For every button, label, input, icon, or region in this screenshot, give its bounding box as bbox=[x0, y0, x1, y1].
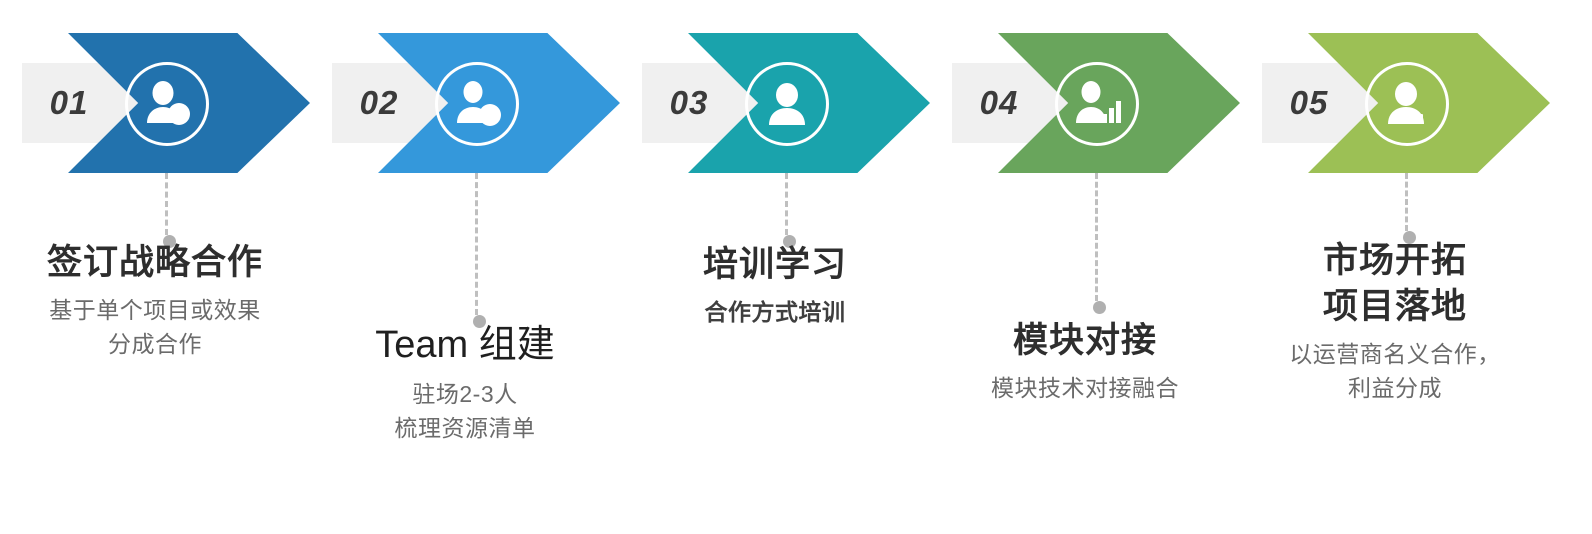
step-connector-line bbox=[785, 173, 791, 235]
user-check-icon bbox=[125, 62, 209, 146]
process-step: 03 培训学习 合作方式培训 bbox=[620, 0, 930, 534]
step-connector-line bbox=[475, 173, 481, 315]
user-badge-icon bbox=[1365, 62, 1449, 146]
step-connector-line bbox=[1405, 173, 1411, 231]
step-text-block: 市场开拓 项目落地 以运营商名义合作， 利益分成 bbox=[1240, 238, 1550, 405]
step-subtitle: 合作方式培训 bbox=[620, 296, 930, 329]
step-number-label: 02 bbox=[360, 84, 425, 122]
headset-support-icon bbox=[745, 62, 829, 146]
step-number-label: 03 bbox=[670, 84, 735, 122]
step-number-label: 01 bbox=[50, 84, 115, 122]
step-number-label: 05 bbox=[1290, 84, 1355, 122]
step-banner: 05 bbox=[1240, 33, 1550, 173]
step-title: 签订战略合作 bbox=[0, 240, 310, 286]
process-step: 01 签订战略合作 基于单个项目或效果 分成合作 bbox=[0, 0, 310, 534]
step-text-block: 签订战略合作 基于单个项目或效果 分成合作 bbox=[0, 240, 310, 361]
step-banner: 01 bbox=[0, 33, 310, 173]
step-banner: 02 bbox=[310, 33, 620, 173]
step-banner: 04 bbox=[930, 33, 1240, 173]
step-subtitle: 基于单个项目或效果 分成合作 bbox=[0, 294, 310, 361]
step-title: 模块对接 bbox=[930, 318, 1240, 364]
step-title: Team 组建 bbox=[310, 320, 620, 370]
step-banner: 03 bbox=[620, 33, 930, 173]
step-connector-dot bbox=[1093, 301, 1106, 314]
process-step: 02 Team 组建 驻场2-3人 梳理资源清单 bbox=[310, 0, 620, 534]
process-step: 04 模块对接 模块技术对接融合 bbox=[930, 0, 1240, 534]
step-text-block: 培训学习 合作方式培训 bbox=[620, 242, 930, 330]
process-flow-diagram: 01 签订战略合作 基于单个项目或效果 分成合作 02 bbox=[0, 0, 1592, 534]
step-subtitle: 以运营商名义合作， 利益分成 bbox=[1240, 338, 1550, 405]
step-text-block: 模块对接 模块技术对接融合 bbox=[930, 318, 1240, 406]
step-title: 市场开拓 项目落地 bbox=[1240, 238, 1550, 330]
user-growth-chart-icon bbox=[1055, 62, 1139, 146]
step-subtitle: 模块技术对接融合 bbox=[930, 372, 1240, 405]
user-piechart-icon bbox=[435, 62, 519, 146]
step-connector-line bbox=[1095, 173, 1101, 301]
process-step: 05 市场开拓 项目落地 以运营商名义合作， 利益分成 bbox=[1240, 0, 1550, 534]
step-text-block: Team 组建 驻场2-3人 梳理资源清单 bbox=[310, 320, 620, 445]
step-title: 培训学习 bbox=[620, 242, 930, 288]
step-connector-line bbox=[165, 173, 171, 235]
step-subtitle: 驻场2-3人 梳理资源清单 bbox=[310, 378, 620, 445]
step-number-label: 04 bbox=[980, 84, 1045, 122]
